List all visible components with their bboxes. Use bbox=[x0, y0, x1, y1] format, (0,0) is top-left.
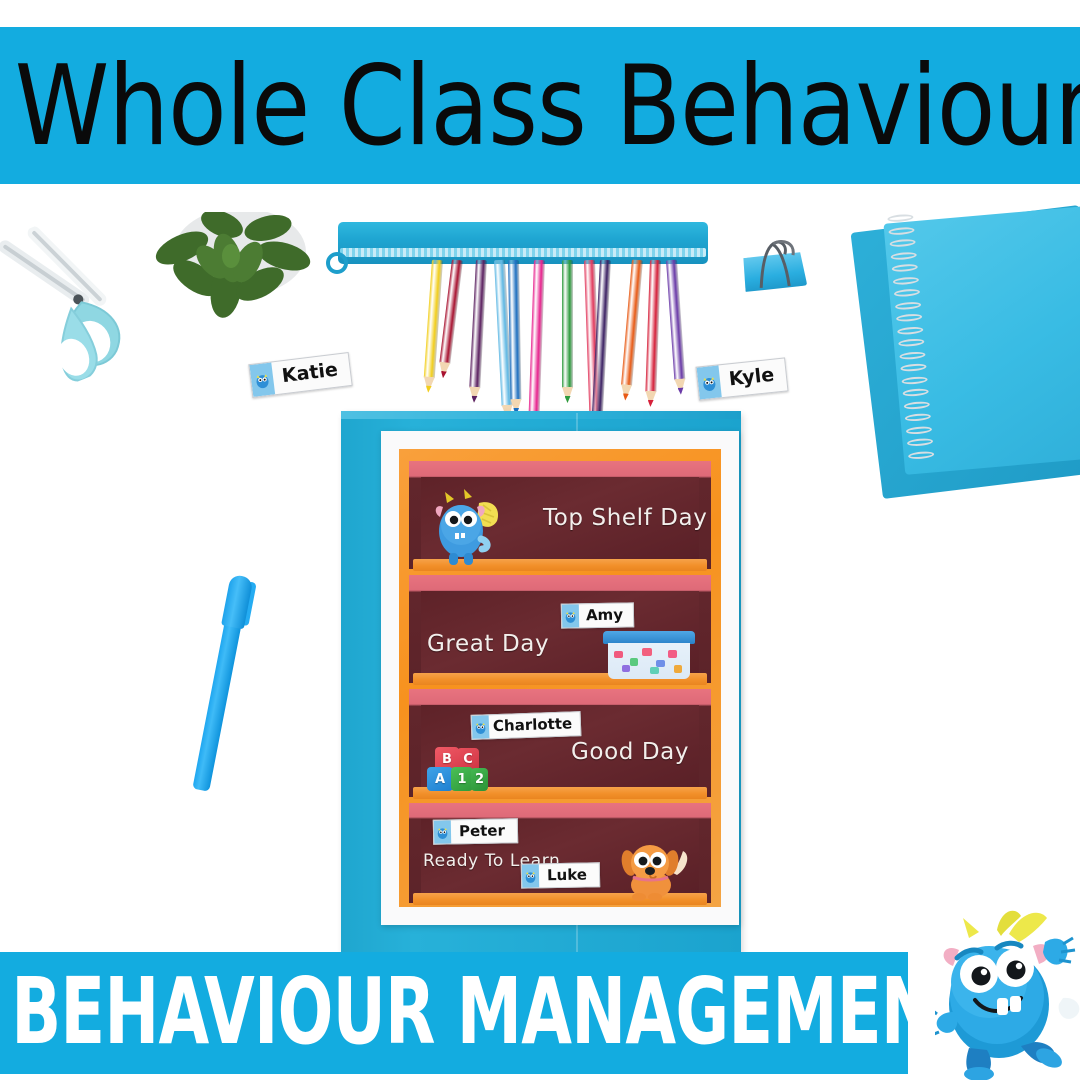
name-tag-amy[interactable]: Amy bbox=[561, 602, 634, 628]
pencil-6 bbox=[528, 260, 545, 422]
monster-icon bbox=[434, 820, 451, 843]
name-tag-peter[interactable]: Peter bbox=[433, 818, 518, 844]
pencil-7 bbox=[562, 260, 573, 388]
name-tag-label: Amy bbox=[579, 603, 633, 627]
alphabet-blocks-icon: B C A 1 2 bbox=[427, 747, 489, 791]
blue-monster-mascot-icon bbox=[935, 908, 1080, 1080]
shelf-row-great-day[interactable]: Great Day Amy bbox=[409, 575, 711, 683]
block-2: 2 bbox=[471, 768, 488, 791]
shelf-row-good-day[interactable]: Charlotte Good Day B C A 1 2 bbox=[409, 689, 711, 797]
shelf-row-ready-to-learn[interactable]: Peter Ready To Learn Luke bbox=[409, 803, 711, 903]
pencil-12 bbox=[666, 260, 685, 380]
zipper-pull-icon bbox=[326, 252, 348, 274]
page-title: Whole Class Behaviour Chart bbox=[0, 50, 1080, 160]
treasure-tub-icon bbox=[603, 631, 695, 681]
zipper-icon bbox=[340, 248, 706, 257]
pencil-case-group bbox=[318, 222, 718, 392]
bottom-banner-label: BEHAVIOUR MANAGEMENT bbox=[0, 967, 979, 1059]
shelf-label-2: Great Day bbox=[427, 631, 549, 657]
chart-frame: Top Shelf Day Great Day bbox=[399, 449, 721, 907]
block-1: 1 bbox=[451, 767, 473, 791]
shelf-row-top-shelf-day[interactable]: Top Shelf Day bbox=[409, 461, 711, 569]
behaviour-chart: Top Shelf Day Great Day bbox=[381, 431, 739, 925]
name-tag-charlotte[interactable]: Charlotte bbox=[471, 711, 582, 740]
pencil-5 bbox=[508, 260, 521, 400]
bottom-banner: BEHAVIOUR MANAGEMENT bbox=[0, 952, 908, 1074]
block-a: A bbox=[427, 767, 453, 791]
shelf-label-3: Good Day bbox=[571, 739, 689, 765]
blue-monster-icon bbox=[431, 487, 503, 572]
name-tag-label: Kyle bbox=[718, 358, 787, 397]
monster-icon bbox=[562, 604, 579, 627]
orange-dog-icon bbox=[621, 841, 693, 906]
name-tag-label: Peter bbox=[451, 819, 517, 843]
poster-canvas: Whole Class Behaviour Chart bbox=[0, 0, 1080, 1080]
top-banner: Whole Class Behaviour Chart bbox=[0, 27, 1080, 184]
monster-icon bbox=[522, 864, 539, 887]
pencil-3 bbox=[469, 260, 487, 388]
name-tag-luke[interactable]: Luke bbox=[521, 862, 600, 888]
pencil-11 bbox=[645, 260, 661, 392]
name-tag-label: Luke bbox=[539, 863, 599, 887]
name-tag-label: Charlotte bbox=[489, 712, 581, 738]
monster-icon bbox=[472, 715, 490, 739]
shelf-label-1: Top Shelf Day bbox=[543, 505, 707, 531]
binder-clip-icon bbox=[739, 234, 808, 294]
succulent-plant-icon bbox=[118, 212, 318, 342]
pencil-2 bbox=[439, 259, 463, 364]
pencil-10 bbox=[621, 260, 643, 386]
pencil-case-icon bbox=[338, 222, 708, 264]
ballpoint-pen-icon bbox=[185, 573, 256, 793]
